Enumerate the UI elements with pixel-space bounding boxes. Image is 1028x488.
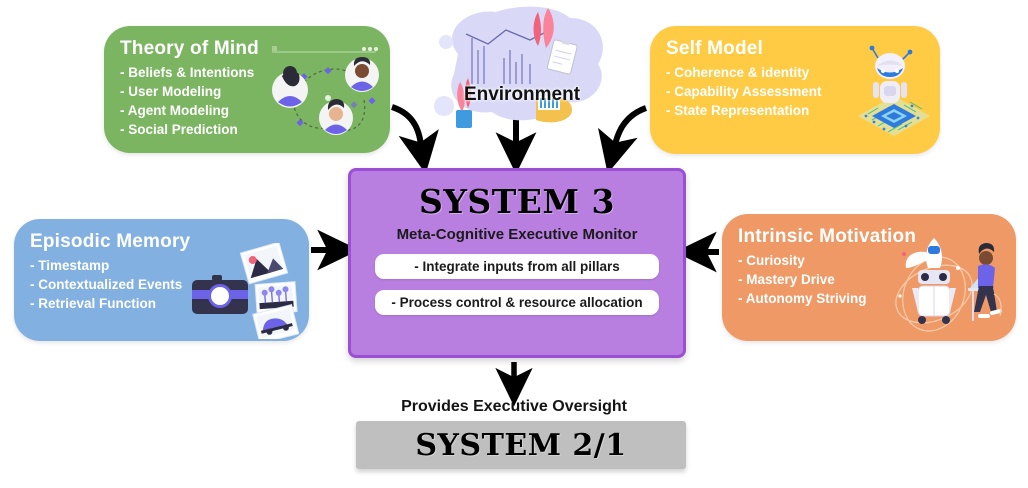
robot-on-chip-icon xyxy=(846,44,940,148)
pillar-card-theory-of-mind[interactable]: Theory of Mind - Beliefs & Intentions - … xyxy=(104,26,390,153)
camera-photos-icon xyxy=(190,243,302,339)
diagram-canvas: Environment Theory of Mind - Beliefs & I… xyxy=(0,0,1028,488)
environment-label: Environment xyxy=(414,84,630,106)
system3-function-1: - Integrate inputs from all pillars xyxy=(375,254,659,279)
oversight-label: Provides Executive Oversight xyxy=(0,398,1028,416)
system21-label: SYSTEM 2/1 xyxy=(415,428,626,463)
environment-group: Environment xyxy=(414,2,630,142)
social-network-avatars-icon xyxy=(264,40,384,140)
pillar-card-episodic-memory[interactable]: Episodic Memory - Timestamp - Contextual… xyxy=(14,219,309,341)
system3-subtitle: Meta-Cognitive Executive Monitor xyxy=(397,226,638,243)
pillar-card-intrinsic-motivation[interactable]: Intrinsic Motivation - Curiosity - Maste… xyxy=(722,214,1016,341)
system3-box[interactable]: SYSTEM 3 Meta-Cognitive Executive Monito… xyxy=(348,168,686,358)
pillar-card-self-model[interactable]: Self Model - Coherence & identity - Capa… xyxy=(650,26,940,154)
system3-function-2: - Process control & resource allocation xyxy=(375,290,659,315)
system3-title: SYSTEM 3 xyxy=(419,185,615,218)
system21-box[interactable]: SYSTEM 2/1 xyxy=(356,421,686,469)
environment-illustration-icon xyxy=(414,2,630,142)
rocket-launch-person-icon xyxy=(882,236,1012,336)
